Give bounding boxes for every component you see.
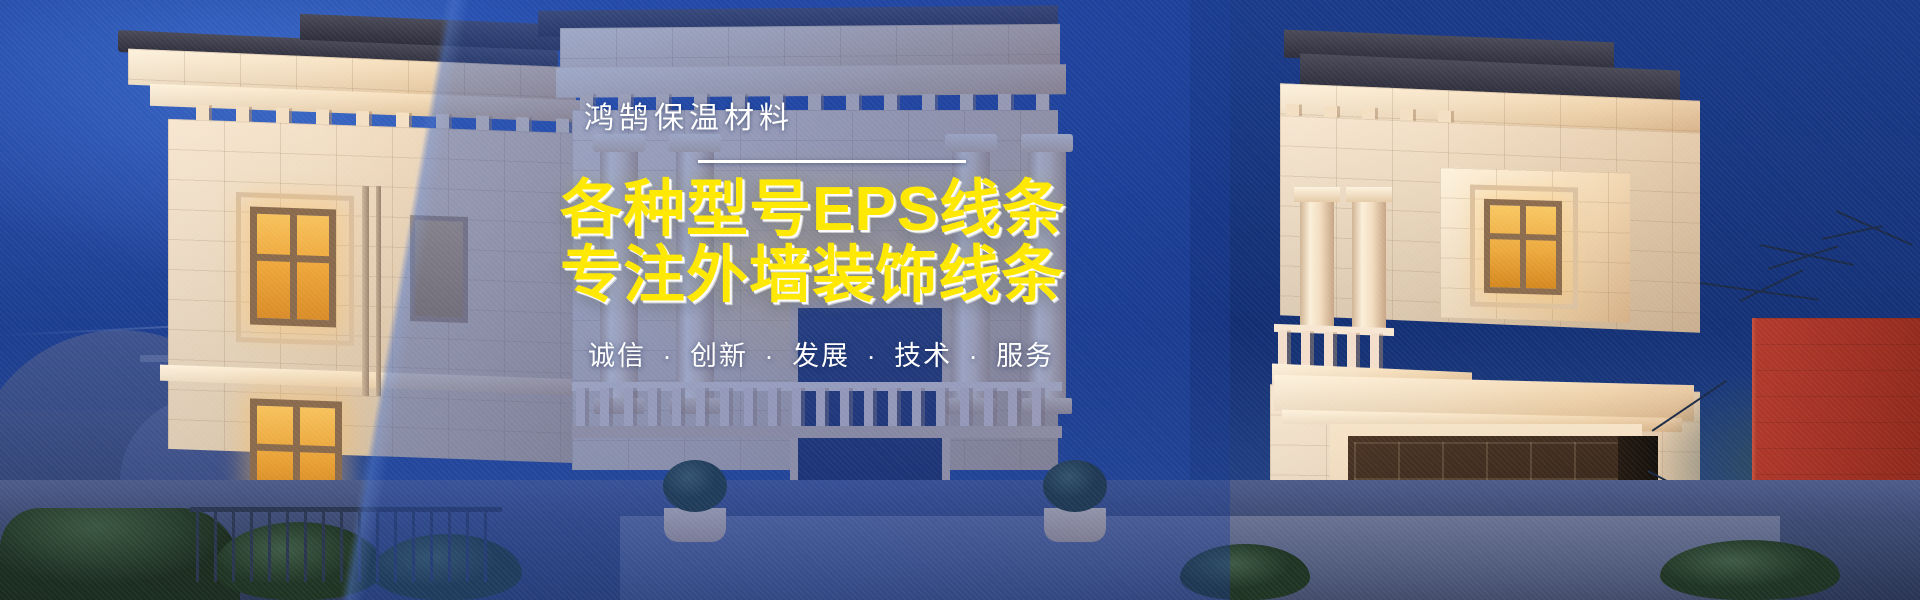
tagline-separator: ·	[867, 341, 878, 371]
banner-copy: 鸿鹄保温材料 各种型号EPS线条 专注外墙装饰线条 诚信 · 创新 · 发展 ·…	[560, 104, 1320, 373]
headline-line-2: 专注外墙装饰线条	[560, 243, 1320, 309]
window-mullion-horizontal	[257, 253, 329, 263]
tagline-item-2: 创新	[690, 341, 748, 371]
left-wing-window-lit	[250, 206, 336, 327]
window-mullion-vertical	[290, 215, 297, 319]
column	[1352, 200, 1386, 332]
brand-name: 鸿鹄保温材料	[584, 104, 1320, 134]
headline: 各种型号EPS线条 专注外墙装饰线条	[560, 177, 1320, 308]
headline-line-1: 各种型号EPS线条	[560, 177, 1320, 243]
window-mullion-vertical	[1520, 206, 1526, 288]
right-wing-window-lit	[1484, 199, 1562, 295]
tagline-separator: ·	[663, 341, 674, 371]
tagline-item-4: 技术	[894, 341, 952, 371]
divider-rule	[698, 160, 966, 163]
tagline-separator: ·	[765, 341, 776, 371]
downpipe	[362, 186, 369, 396]
tagline: 诚信 · 创新 · 发展 · 技术 · 服务	[588, 334, 1320, 373]
window-mullion-horizontal	[257, 443, 335, 453]
tagline-item-3: 发展	[792, 341, 850, 371]
window-mullion-horizontal	[1490, 233, 1556, 241]
tagline-item-5: 服务	[996, 341, 1054, 371]
tagline-separator: ·	[969, 341, 980, 371]
banner-hero: 鸿鹄保温材料 各种型号EPS线条 专注外墙装饰线条 诚信 · 创新 · 发展 ·…	[0, 0, 1920, 600]
tagline-item-1: 诚信	[588, 341, 646, 371]
